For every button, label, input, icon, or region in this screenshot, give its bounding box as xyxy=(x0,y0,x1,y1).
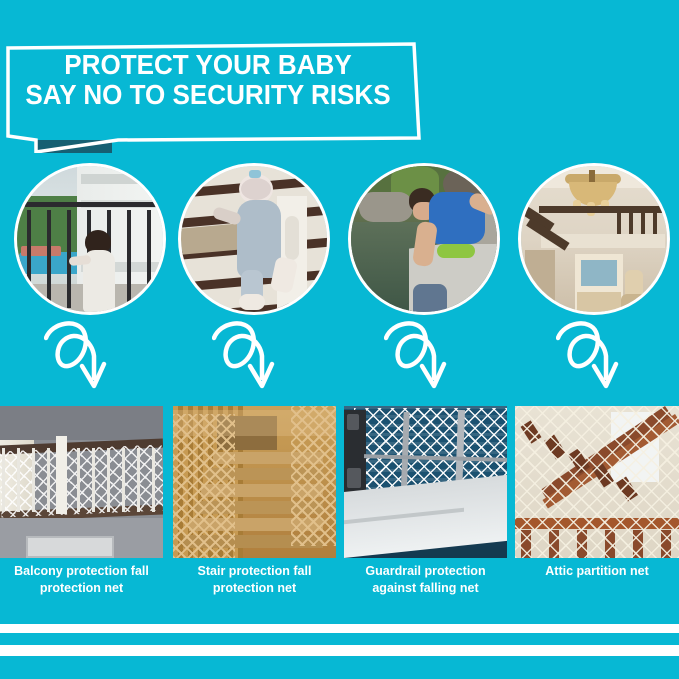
problem-scene-1 xyxy=(14,163,166,315)
product-caption-2: Stair protection fall protection net xyxy=(173,563,336,597)
curly-down-arrow-4 xyxy=(556,318,620,392)
product-caption-4-line1: Attic partition net xyxy=(515,563,679,580)
baby-at-balcony-railing xyxy=(17,166,163,312)
home-mezzanine-balcony xyxy=(521,166,667,312)
problem-scene-row xyxy=(0,160,679,318)
product-infographic: PROTECT YOUR BABY SAY NO TO SECURITY RIS… xyxy=(0,0,679,679)
banner-headline-line2: SAY NO TO SECURITY RISKS xyxy=(22,80,394,110)
caption-row: Balcony protection fall protection net S… xyxy=(0,563,679,615)
baby-climbing-stairs xyxy=(181,166,327,312)
bottom-stripe-2 xyxy=(0,645,679,656)
guardrail-net-photo xyxy=(344,406,507,558)
curly-down-arrow-3 xyxy=(384,318,448,392)
product-image-row xyxy=(0,406,679,558)
banner-headline-line1: PROTECT YOUR BABY xyxy=(22,50,394,80)
child-at-pond-edge xyxy=(351,166,497,312)
product-caption-4: Attic partition net xyxy=(515,563,679,580)
headline-banner: PROTECT YOUR BABY SAY NO TO SECURITY RIS… xyxy=(0,28,440,153)
problem-scene-4 xyxy=(518,163,670,315)
product-image-4[interactable] xyxy=(515,406,679,558)
product-image-2[interactable] xyxy=(173,406,336,558)
product-caption-2-line2: protection net xyxy=(173,580,336,597)
balcony-net-photo xyxy=(0,406,163,558)
curly-down-arrow-1 xyxy=(44,318,108,392)
attic-partition-net-photo xyxy=(515,406,679,558)
curly-down-arrow-2 xyxy=(212,318,276,392)
product-image-1[interactable] xyxy=(0,406,163,558)
product-caption-2-line1: Stair protection fall xyxy=(173,563,336,580)
product-caption-1-line1: Balcony protection fall xyxy=(0,563,163,580)
arrow-row xyxy=(0,316,679,394)
product-caption-1: Balcony protection fall protection net xyxy=(0,563,163,597)
product-image-3[interactable] xyxy=(344,406,507,558)
bottom-stripe-1 xyxy=(0,624,679,633)
product-caption-3-line1: Guardrail protection xyxy=(344,563,507,580)
product-caption-3-line2: against falling net xyxy=(344,580,507,597)
banner-text-block: PROTECT YOUR BABY SAY NO TO SECURITY RIS… xyxy=(22,50,394,110)
stair-net-photo xyxy=(173,406,336,558)
product-caption-3: Guardrail protection against falling net xyxy=(344,563,507,597)
problem-scene-3 xyxy=(348,163,500,315)
problem-scene-2 xyxy=(178,163,330,315)
product-caption-1-line2: protection net xyxy=(0,580,163,597)
